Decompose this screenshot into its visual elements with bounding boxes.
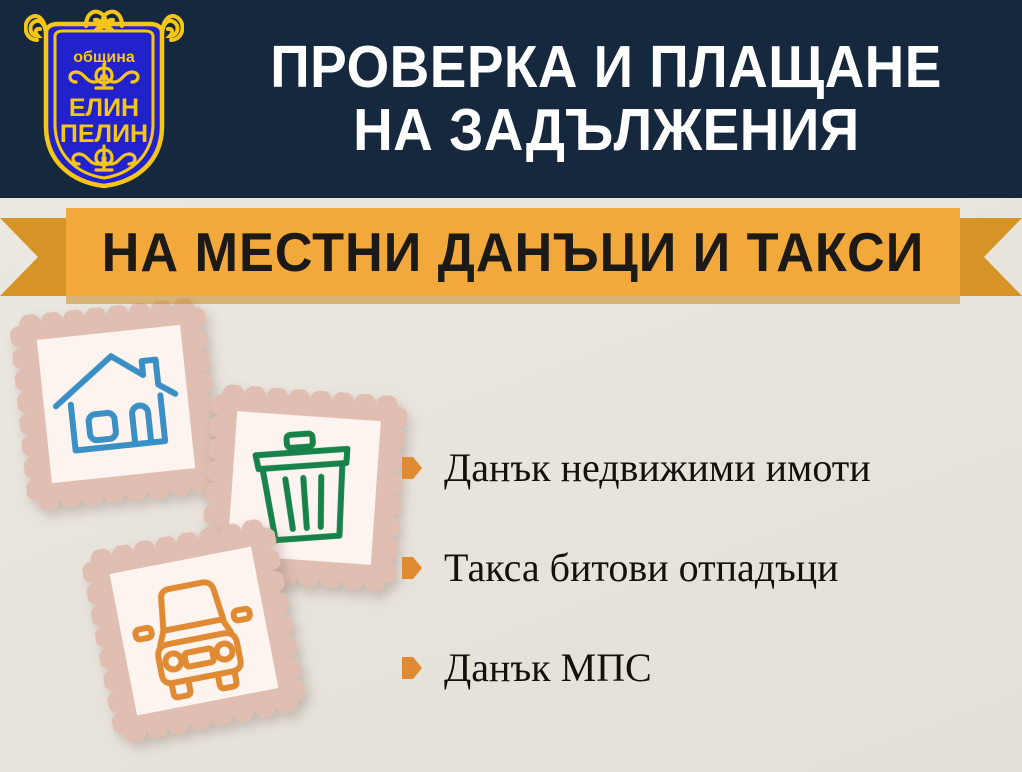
title-line-2: НА ЗАДЪЛЖЕНИЯ	[353, 99, 860, 162]
list-item-label: Данък МПС	[444, 648, 652, 688]
header-bar: община ЕЛИН ПЕЛИН	[0, 0, 1022, 198]
stamp-card-car	[79, 516, 309, 746]
poster-canvas: община ЕЛИН ПЕЛИН	[0, 0, 1022, 772]
tax-type-list: Данък недвижими имоти Такса битови отпад…	[402, 418, 1022, 718]
list-item-label: Такса битови отпадъци	[444, 548, 839, 588]
list-item[interactable]: Данък МПС	[402, 618, 1022, 718]
list-item[interactable]: Данък недвижими имоти	[402, 418, 1022, 518]
arrow-bullet-icon	[402, 557, 422, 579]
stamp-card-group	[0, 290, 420, 772]
poster-title: ПРОВЕРКА И ПЛАЩАНЕ НА ЗАДЪЛЖЕНИЯ	[190, 14, 1022, 184]
svg-text:ПЕЛИН: ПЕЛИН	[60, 120, 148, 148]
ribbon-label: НА МЕСТНИ ДАНЪЦИ И ТАКСИ	[102, 220, 925, 284]
arrow-bullet-icon	[402, 657, 422, 679]
list-item-label: Данък недвижими имоти	[444, 448, 871, 488]
municipality-logo: община ЕЛИН ПЕЛИН	[24, 6, 184, 192]
svg-text:ЕЛИН: ЕЛИН	[69, 94, 139, 122]
arrow-bullet-icon	[402, 457, 422, 479]
stamp-card-house	[8, 296, 223, 511]
list-item[interactable]: Такса битови отпадъци	[402, 518, 1022, 618]
ribbon-banner: НА МЕСТНИ ДАНЪЦИ И ТАКСИ	[66, 208, 960, 296]
subtitle-ribbon: НА МЕСТНИ ДАНЪЦИ И ТАКСИ	[0, 198, 1022, 298]
title-line-1: ПРОВЕРКА И ПЛАЩАНЕ	[270, 36, 942, 99]
